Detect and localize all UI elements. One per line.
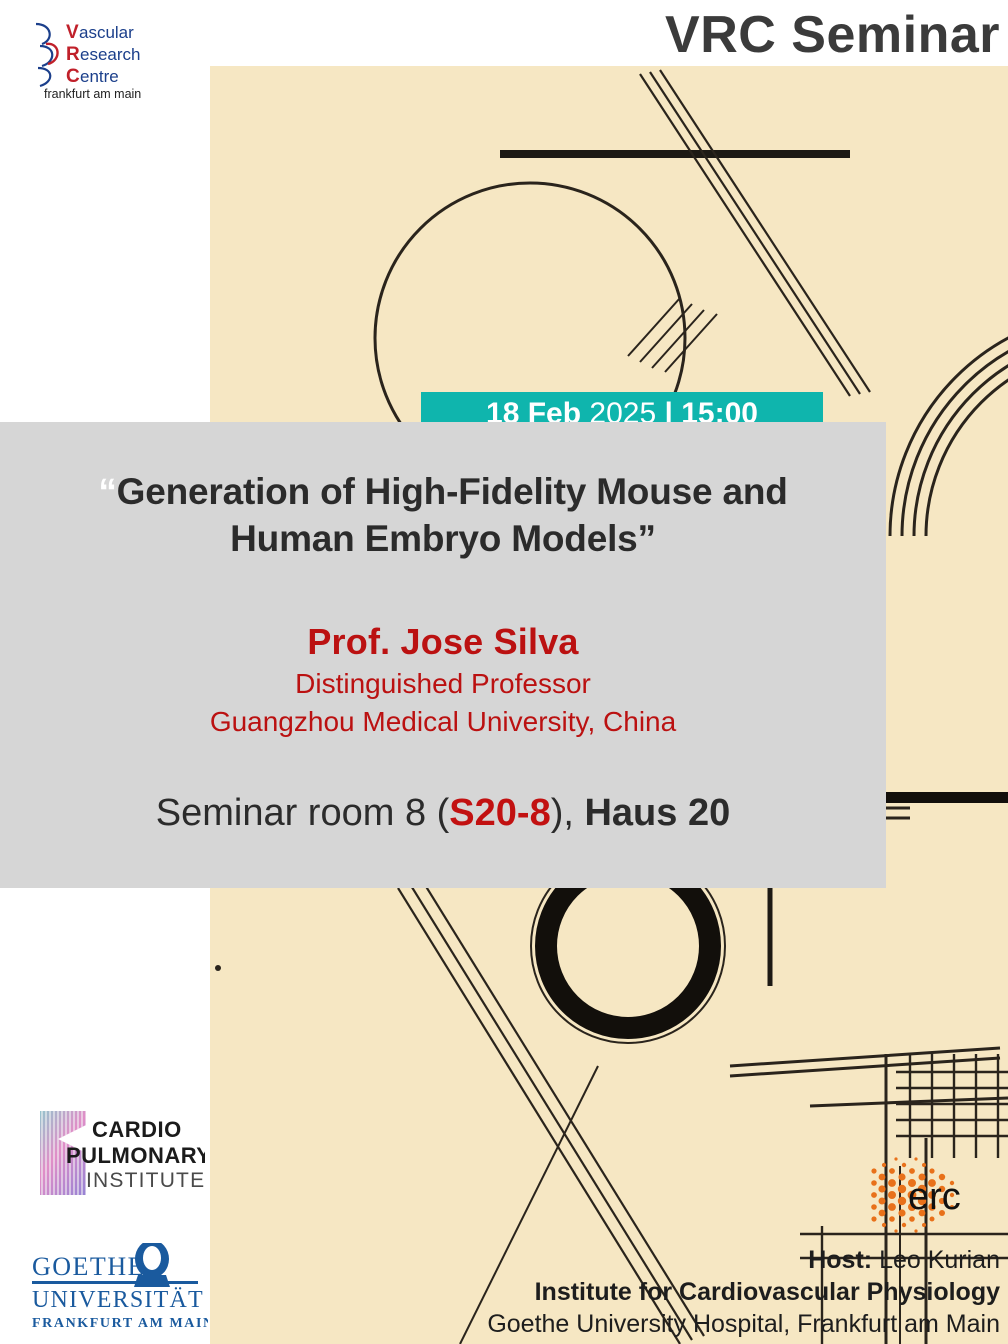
- speaker-role: Distinguished Professor: [22, 665, 864, 703]
- vrc-logo: V ascular R esearch C entre frankfurt am…: [30, 16, 180, 102]
- venue-line: Seminar room 8 (S20-8), Haus 20: [22, 792, 864, 835]
- info-panel: “Generation of High-Fidelity Mouse and H…: [0, 422, 886, 888]
- svg-text:GOETHE: GOETHE: [32, 1252, 145, 1281]
- svg-text:entre: entre: [80, 67, 119, 86]
- svg-text:R: R: [66, 44, 80, 65]
- goethe-university-logo: GOETHE UNIVERSITÄT FRANKFURT AM MAIN: [28, 1243, 208, 1335]
- svg-text:ascular: ascular: [79, 23, 134, 42]
- svg-text:frankfurt am main: frankfurt am main: [44, 87, 141, 101]
- svg-text:UNIVERSITÄT: UNIVERSITÄT: [32, 1287, 204, 1313]
- svg-text:PULMONARY: PULMONARY: [66, 1143, 205, 1168]
- venue-room-code: S20-8: [449, 792, 550, 834]
- svg-text:INSTITUTE: INSTITUTE: [86, 1169, 205, 1192]
- seminar-poster: V ascular R esearch C entre frankfurt am…: [0, 0, 1008, 1344]
- footer-organization: Goethe University Hospital, Frankfurt am…: [487, 1308, 1000, 1340]
- svg-text:C: C: [66, 66, 80, 87]
- cardio-pulmonary-institute-logo: CARDIO PULMONARY INSTITUTE: [30, 1105, 205, 1200]
- speaker-name: Prof. Jose Silva: [22, 621, 864, 663]
- quote-close: ”: [638, 518, 656, 559]
- footer-institute: Institute for Cardiovascular Physiology: [487, 1276, 1000, 1308]
- quote-open: “: [98, 471, 116, 512]
- erc-label: erc: [908, 1176, 961, 1218]
- venue-building: Haus 20: [584, 792, 730, 834]
- speaker-affiliation: Guangzhou Medical University, China: [22, 703, 864, 741]
- talk-title-line1: Generation of High-Fidelity Mouse and: [117, 471, 788, 512]
- host-name: Leo Kurian: [872, 1246, 1000, 1274]
- svg-text:esearch: esearch: [80, 45, 140, 64]
- svg-text:FRANKFURT AM MAIN: FRANKFURT AM MAIN: [32, 1316, 208, 1331]
- venue-middle: ),: [551, 792, 585, 834]
- talk-title: “Generation of High-Fidelity Mouse and H…: [22, 468, 864, 563]
- page-title: VRC Seminar: [665, 8, 1000, 63]
- svg-text:V: V: [66, 22, 79, 43]
- footer: Host: Leo Kurian Institute for Cardiovas…: [487, 1244, 1000, 1340]
- svg-text:CARDIO: CARDIO: [92, 1117, 182, 1142]
- footer-host-line: Host: Leo Kurian: [487, 1244, 1000, 1276]
- talk-title-line2: Human Embryo Models: [230, 518, 637, 559]
- goethe-portrait-icon: [134, 1243, 170, 1287]
- erc-logo: erc: [866, 1143, 996, 1248]
- venue-prefix: Seminar room 8 (: [156, 792, 450, 834]
- host-label: Host:: [808, 1246, 872, 1274]
